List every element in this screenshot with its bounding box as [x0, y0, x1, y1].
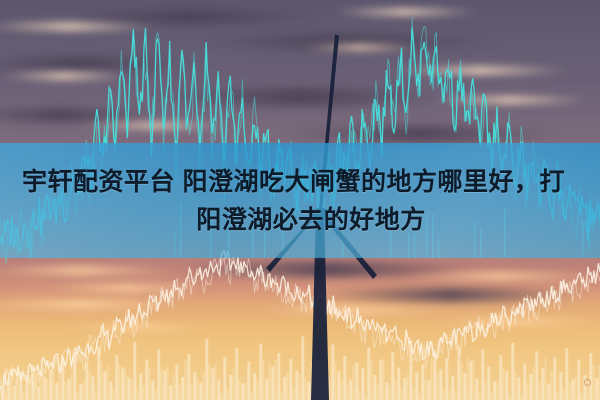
title-line-2: 阳澄湖必去的好地方 — [196, 201, 426, 239]
corner-watermark — [584, 379, 591, 386]
title-block: 宇轩配资平台 阳澄湖吃大闸蟹的地方哪里好，打 阳澄湖必去的好地方 — [0, 143, 600, 258]
title-line-1: 宇轩配资平台 阳澄湖吃大闸蟹的地方哪里好，打 — [22, 163, 565, 201]
banner-image: 宇轩配资平台 阳澄湖吃大闸蟹的地方哪里好，打 阳澄湖必去的好地方 — [0, 0, 600, 400]
